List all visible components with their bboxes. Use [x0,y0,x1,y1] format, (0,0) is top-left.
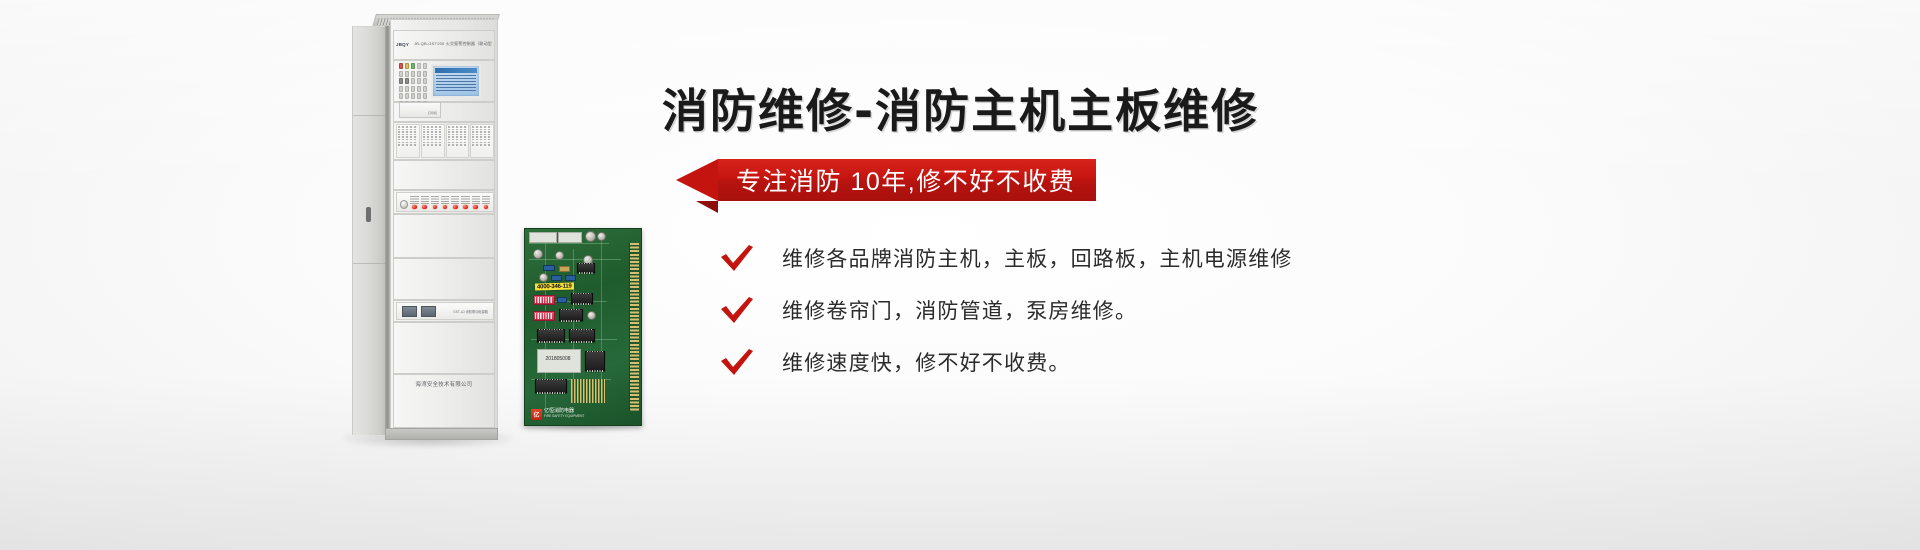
zone-column [446,124,470,158]
brand-subtitle: FIRE SAFETY EQUIPMENT [544,414,584,418]
lcd-text-lines [436,75,476,93]
cabinet-section-blank-1 [393,160,495,190]
cabinet-lcd-screen [431,64,481,98]
list-item: 维修速度快，修不好不收费。 [720,347,1842,377]
cabinet-section-blank-3 [393,258,495,300]
tagline-ribbon: 专注消防 10年,修不好不收费 [662,159,1096,209]
pcb-ic-chip [577,263,595,273]
pcb-chip-label: 201805008 [539,356,577,362]
pcb-ic-chip [559,309,583,321]
ribbon-label: 专注消防 10年,修不好不收费 [736,162,1075,198]
cabinet-brand-row: JBQY JB-QB-GST200 火灾报警控制器（联动型） [396,40,492,48]
pcb-capacitor [555,251,564,260]
led-cell [441,196,449,210]
feature-list: 维修各品牌消防主机，主板，回路板，主机电源维修 维修卷帘门，消防管道，泵房维修。… [720,243,1842,377]
circuit-board-image: 4000-346-119 201805008 亿 亿恒消防电器 FIRE SA [524,228,642,426]
pcb-ic-chip [571,293,593,304]
led-cell [410,196,418,210]
cabinet-door-handle [366,207,371,222]
led-cell [482,196,490,210]
cabinet-section-blank-4 [393,322,495,374]
pcb-ic-chip [535,379,567,393]
current-meter [421,306,436,317]
pcb-resistor [565,275,576,281]
cabinet-keypad [399,63,427,99]
list-item: 维修各品牌消防主机，主板，回路板，主机电源维修 [720,243,1842,273]
check-icon [720,297,754,323]
led-cell [451,196,459,210]
ribbon-fold-tail [676,201,718,213]
led-cell [461,196,469,210]
cabinet-power-meter-row: GST-LD 消防联动电源箱 [396,302,494,320]
pcb-capacitor [539,273,548,282]
zone-column [396,124,420,158]
pcb-dip-switch [533,295,555,305]
pcb-socket [571,379,605,403]
cabinet-section-blank-2 [393,214,495,258]
pcb-dip-switch [533,311,555,321]
ribbon-left-arrow [676,159,718,201]
cabinet-base-plinth [385,428,498,440]
printer-slot-label: 打印机 [428,111,437,115]
pcb-resistor [557,297,567,303]
zone-column [421,124,445,158]
pcb-terminal-block [558,232,582,243]
pcb-brand-logo: 亿 亿恒消防电器 FIRE SAFETY EQUIPMENT [531,409,584,421]
list-item-label: 维修卷帘门，消防管道，泵房维修。 [782,295,1137,325]
page-title: 消防维修-消防主机主板维修 [662,86,1842,137]
check-icon [720,245,754,271]
pcb-capacitor [585,231,596,242]
fire-alarm-cabinet-image: JBQY JB-QB-GST200 火灾报警控制器（联动型） 打印机 [352,14,500,442]
list-item: 维修卷帘门，消防管道，泵房维修。 [720,295,1842,325]
lcd-title-bar [435,68,477,73]
pcb-edge-connector [629,243,639,411]
brand-name-text: 亿恒消防电器 FIRE SAFETY EQUIPMENT [544,409,584,421]
promo-banner: JBQY JB-QB-GST200 火灾报警控制器（联动型） 打印机 [0,0,1920,550]
pcb-ic-chip [537,329,565,342]
cabinet-brand-mark: JBQY [396,42,409,47]
pcb-resistor [543,265,555,271]
pcb-ic-chip [585,351,605,371]
cabinet-manufacturer-text: 海湾安全技术有限公司 [393,380,495,388]
voltage-meter [402,306,417,317]
brand-name: 亿恒消防电器 [544,408,574,414]
led-cell [421,196,429,210]
zone-column [470,124,494,158]
check-icon [720,349,754,375]
list-item-label: 维修速度快，修不好不收费。 [782,347,1071,377]
cabinet-side-panel [352,26,386,435]
pcb-resistor [559,266,570,272]
led-cell [431,196,439,210]
led-cell [472,196,480,210]
cabinet-zone-indicator-block [396,124,494,158]
module-rotary-knob [400,200,408,209]
power-module-label: GST-LD 消防联动电源箱 [453,309,488,314]
pcb-capacitor [533,249,543,259]
list-item-label: 维修各品牌消防主机，主板，回路板，主机电源维修 [782,243,1293,273]
pcb-capacitor [597,232,606,241]
cabinet-printer-slot: 打印机 [399,102,441,118]
pcb-phone-sticker: 4000-346-119 [535,282,574,290]
cabinet-led-module-row [396,192,494,212]
pcb-resistor [551,275,562,281]
ribbon-body: 专注消防 10年,修不好不收费 [718,159,1096,201]
cabinet-brand-line: JB-QB-GST200 火灾报警控制器（联动型） [414,41,492,47]
pcb-ic-chip [569,329,595,342]
banner-content: 消防维修-消防主机主板维修 专注消防 10年,修不好不收费 维修各品牌消防主机，… [662,86,1842,399]
pcb-terminal-block [529,232,557,243]
pcb-capacitor [587,311,596,320]
brand-badge-icon: 亿 [531,409,542,420]
